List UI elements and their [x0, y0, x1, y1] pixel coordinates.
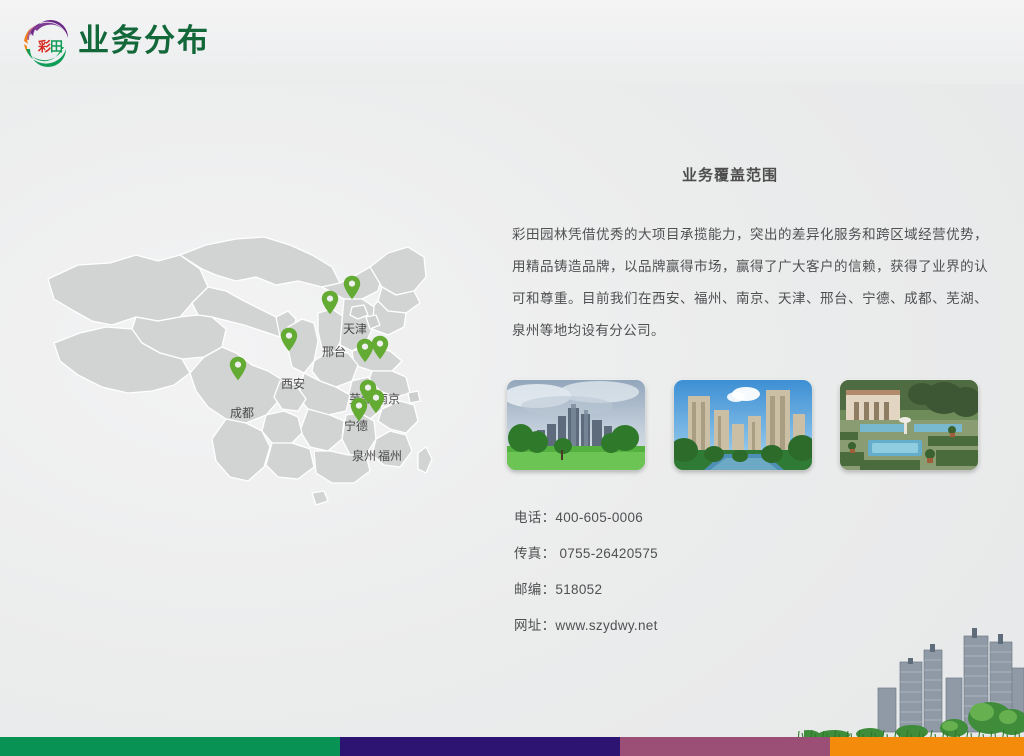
city-label-泉州: 泉州 — [352, 447, 376, 464]
page-title: 业务分布 — [78, 18, 210, 64]
svg-text:田: 田 — [50, 40, 63, 55]
contact-postcode-label: 邮编： — [514, 582, 555, 597]
section-title: 业务覆盖范围 — [500, 164, 1000, 185]
page-header: 彩 田 业务分布 — [0, 0, 1024, 84]
photo-city-skyline-park[interactable] — [507, 380, 645, 470]
bar-mauve — [620, 737, 830, 756]
bar-orange — [830, 737, 1024, 756]
city-skyline-illustration — [804, 622, 1024, 737]
svg-text:彩: 彩 — [37, 39, 51, 55]
map-marker-邢台[interactable] — [321, 290, 339, 315]
china-map-svg — [40, 225, 470, 525]
contact-postcode: 邮编：518052 — [514, 572, 914, 608]
map-marker-泉州[interactable] — [350, 397, 368, 422]
bar-green — [0, 737, 340, 756]
contact-website-label: 网址： — [514, 618, 555, 633]
contact-fax-value: 0755-26420575 — [555, 546, 658, 561]
photo-residential-riverside[interactable] — [674, 380, 812, 470]
city-label-西安: 西安 — [281, 375, 305, 392]
contact-fax-label: 传真： — [514, 546, 555, 561]
contact-postcode-value: 518052 — [555, 582, 602, 597]
contact-website-value[interactable]: www.szydwy.net — [555, 618, 657, 633]
map-marker-南京[interactable] — [371, 335, 389, 360]
map-marker-西安[interactable] — [280, 327, 298, 352]
contact-phone-value: 400-605-0006 — [555, 510, 643, 525]
photo-formal-garden-pool[interactable] — [840, 380, 978, 470]
map-marker-福州[interactable] — [367, 389, 385, 414]
caitian-logo: 彩 田 — [16, 11, 76, 71]
slide-page: 彩 田 业务分布 — [0, 0, 1024, 756]
info-panel: 业务覆盖范围 彩田园林凭借优秀的大项目承揽能力，突出的差异化服务和跨区域经营优势… — [500, 150, 1000, 347]
bottom-color-bar — [0, 737, 1024, 756]
city-label-福州: 福州 — [378, 447, 402, 464]
contact-fax: 传真： 0755-26420575 — [514, 536, 914, 572]
contact-phone-label: 电话： — [514, 510, 555, 525]
photo-gallery — [507, 380, 987, 470]
contact-phone: 电话：400-605-0006 — [514, 500, 914, 536]
city-label-邢台: 邢台 — [322, 343, 346, 360]
map-marker-成都[interactable] — [229, 356, 247, 381]
city-label-成都: 成都 — [230, 404, 254, 421]
bar-purple — [340, 737, 620, 756]
map-marker-天津[interactable] — [343, 275, 361, 300]
city-label-天津: 天津 — [343, 320, 367, 337]
china-map-container — [40, 225, 470, 525]
description-paragraph: 彩田园林凭借优秀的大项目承揽能力，突出的差异化服务和跨区域经营优势，用精品铸造品… — [512, 219, 988, 347]
